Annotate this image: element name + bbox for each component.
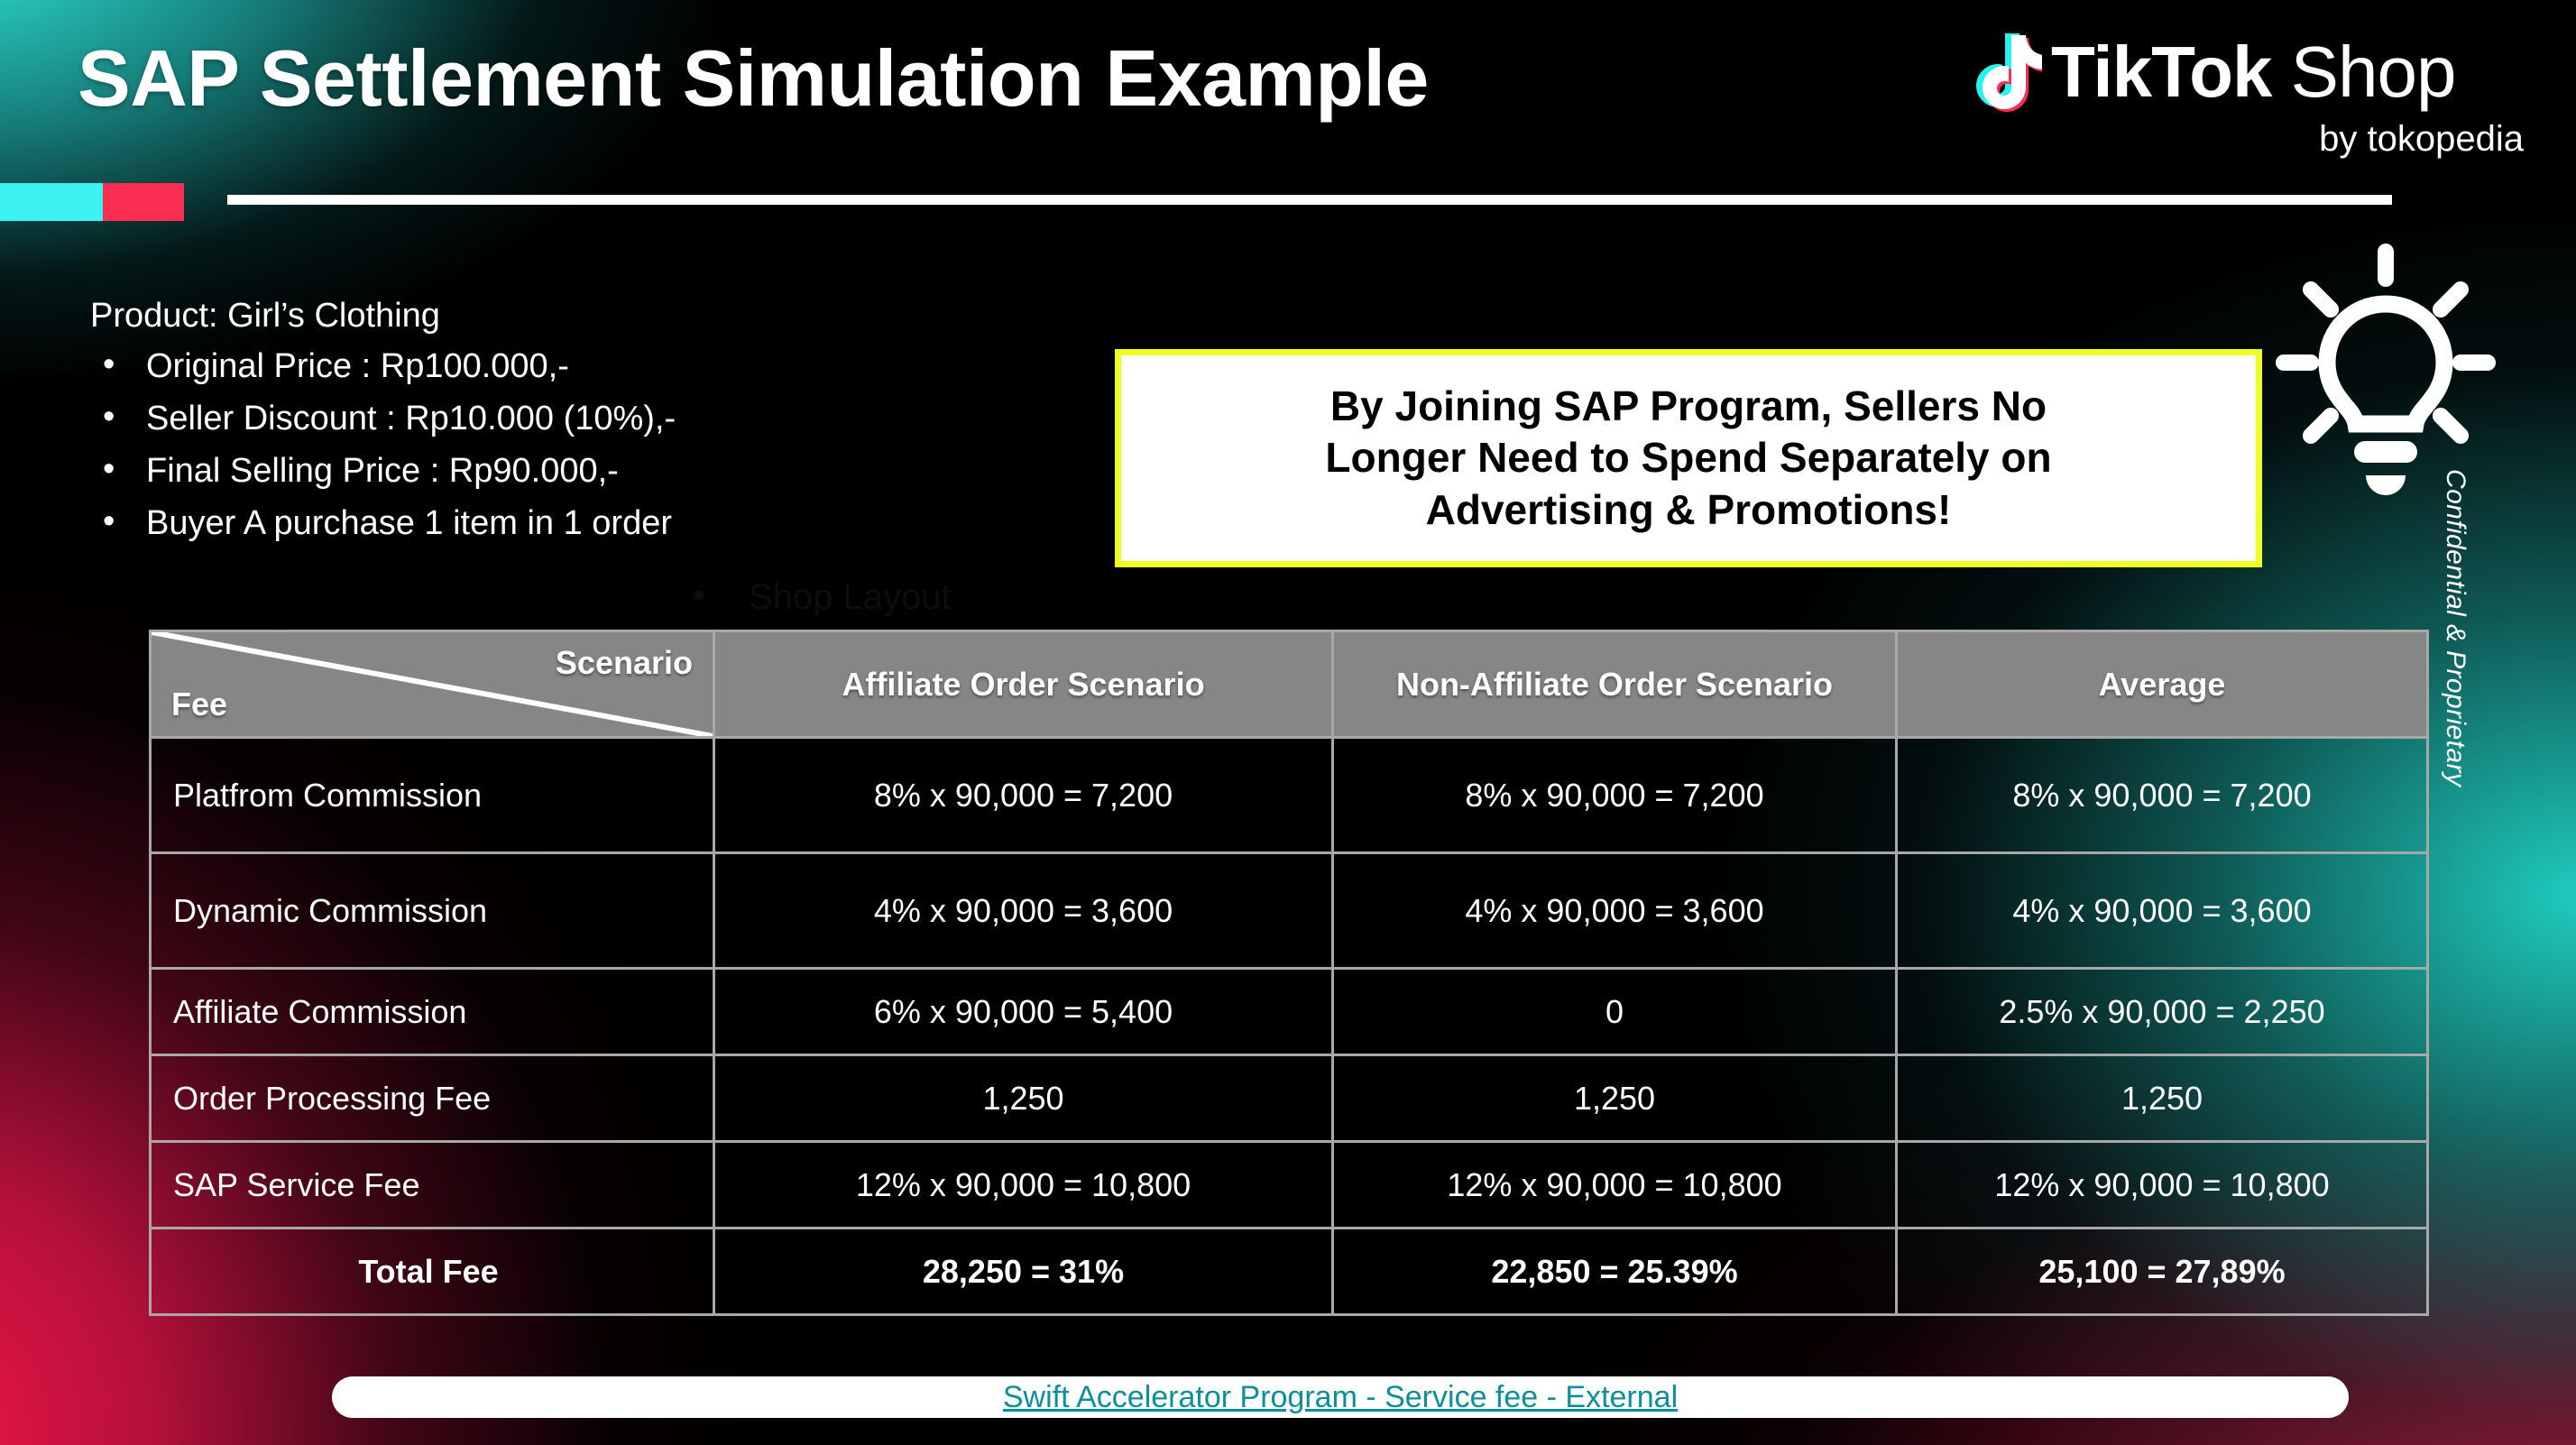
total-affiliate: 28,250 = 31% <box>714 1229 1333 1315</box>
table-row: Affiliate Commission 6% x 90,000 = 5,400… <box>151 969 2428 1055</box>
table-row: Dynamic Commission 4% x 90,000 = 3,600 4… <box>151 853 2428 969</box>
cell-non-affiliate: 12% x 90,000 = 10,800 <box>1333 1142 1897 1229</box>
logo-brand: TikTok <box>2051 32 2271 112</box>
product-bullet-list: Original Price : Rp100.000,- Seller Disc… <box>90 341 956 549</box>
accent-chip-red <box>103 183 184 221</box>
tiktok-shop-logo: TikTok Shop by tokopedia <box>1972 25 2531 179</box>
table-row: SAP Service Fee 12% x 90,000 = 10,800 12… <box>151 1142 2428 1229</box>
table-row: Platfrom Commission 8% x 90,000 = 7,200 … <box>151 738 2428 853</box>
list-item: Seller Discount : Rp10.000 (10%),- <box>90 393 956 446</box>
table-row: Order Processing Fee 1,250 1,250 1,250 <box>151 1055 2428 1142</box>
row-label: Order Processing Fee <box>151 1055 714 1142</box>
table-body: Platfrom Commission 8% x 90,000 = 7,200 … <box>151 738 2428 1315</box>
logo-row: TikTok Shop <box>1972 25 2531 119</box>
row-label: Platfrom Commission <box>151 738 714 853</box>
cell-average: 2.5% x 90,000 = 2,250 <box>1897 969 2428 1055</box>
callout-line-1: By Joining SAP Program, Sellers No <box>1330 382 2047 429</box>
accent-chip-cyan <box>0 183 103 221</box>
title-underline-rule <box>227 195 2392 205</box>
table-header-row: Scenario Fee Affiliate Order Scenario No… <box>151 631 2428 738</box>
cell-average: 4% x 90,000 = 3,600 <box>1897 853 2428 969</box>
row-label: Affiliate Commission <box>151 969 714 1055</box>
footer-link[interactable]: Swift Accelerator Program - Service fee … <box>1003 1380 1678 1415</box>
table-total-row: Total Fee 28,250 = 31% 22,850 = 25.39% 2… <box>151 1229 2428 1315</box>
column-header-average: Average <box>1897 631 2428 738</box>
ghost-shop-layout-text: Shop Layout <box>749 577 952 618</box>
callout-line-3: Advertising & Promotions! <box>1426 486 1952 533</box>
total-row-label: Total Fee <box>151 1229 714 1315</box>
cell-non-affiliate: 4% x 90,000 = 3,600 <box>1333 853 1897 969</box>
column-header-non-affiliate: Non-Affiliate Order Scenario <box>1333 631 1897 738</box>
confidential-watermark: Confidential & Proprietary <box>2440 469 2470 787</box>
lightbulb-icon <box>2264 239 2507 510</box>
fee-table: Scenario Fee Affiliate Order Scenario No… <box>149 630 2429 1316</box>
product-info-block: Product: Girl’s Clothing Original Price … <box>90 293 956 549</box>
total-average: 25,100 = 27,89% <box>1897 1229 2428 1315</box>
logo-suffix: Shop <box>2271 32 2455 112</box>
list-item: Original Price : Rp100.000,- <box>90 341 956 393</box>
total-non-affiliate: 22,850 = 25.39% <box>1333 1229 1897 1315</box>
slide-canvas: SAP Settlement Simulation Example TikTok… <box>0 0 2576 1445</box>
corner-column-label: Scenario <box>556 643 693 682</box>
cell-affiliate: 1,250 <box>714 1055 1333 1142</box>
cell-average: 12% x 90,000 = 10,800 <box>1897 1142 2428 1229</box>
row-label: Dynamic Commission <box>151 853 714 969</box>
fee-table-wrapper: Scenario Fee Affiliate Order Scenario No… <box>149 630 2426 1316</box>
page-title: SAP Settlement Simulation Example <box>78 32 1429 124</box>
logo-byline: by tokopedia <box>2319 119 2524 160</box>
cell-affiliate: 12% x 90,000 = 10,800 <box>714 1142 1333 1229</box>
cell-average: 1,250 <box>1897 1055 2428 1142</box>
callout-text: By Joining SAP Program, Sellers No Longe… <box>1325 381 2051 535</box>
corner-row-label: Fee <box>171 685 227 723</box>
cell-affiliate: 6% x 90,000 = 5,400 <box>714 969 1333 1055</box>
cell-average: 8% x 90,000 = 7,200 <box>1897 738 2428 853</box>
cell-non-affiliate: 0 <box>1333 969 1897 1055</box>
cell-non-affiliate: 8% x 90,000 = 7,200 <box>1333 738 1897 853</box>
list-item: Buyer A purchase 1 item in 1 order <box>90 498 956 550</box>
logo-wordmark: TikTok Shop <box>2051 36 2456 108</box>
product-heading: Product: Girl’s Clothing <box>90 293 956 339</box>
table-corner-cell: Scenario Fee <box>151 631 714 738</box>
table-header: Scenario Fee Affiliate Order Scenario No… <box>151 631 2428 738</box>
footer-link-bar: Swift Accelerator Program - Service fee … <box>332 1376 2349 1418</box>
cell-non-affiliate: 1,250 <box>1333 1055 1897 1142</box>
callout-line-2: Longer Need to Spend Separately on <box>1325 434 2051 481</box>
tiktok-note-icon <box>1972 32 2042 113</box>
cell-affiliate: 4% x 90,000 = 3,600 <box>714 853 1333 969</box>
column-header-affiliate: Affiliate Order Scenario <box>714 631 1333 738</box>
list-item: Final Selling Price : Rp90.000,- <box>90 446 956 498</box>
cell-affiliate: 8% x 90,000 = 7,200 <box>714 738 1333 853</box>
row-label: SAP Service Fee <box>151 1142 714 1229</box>
callout-box: By Joining SAP Program, Sellers No Longe… <box>1115 349 2262 567</box>
